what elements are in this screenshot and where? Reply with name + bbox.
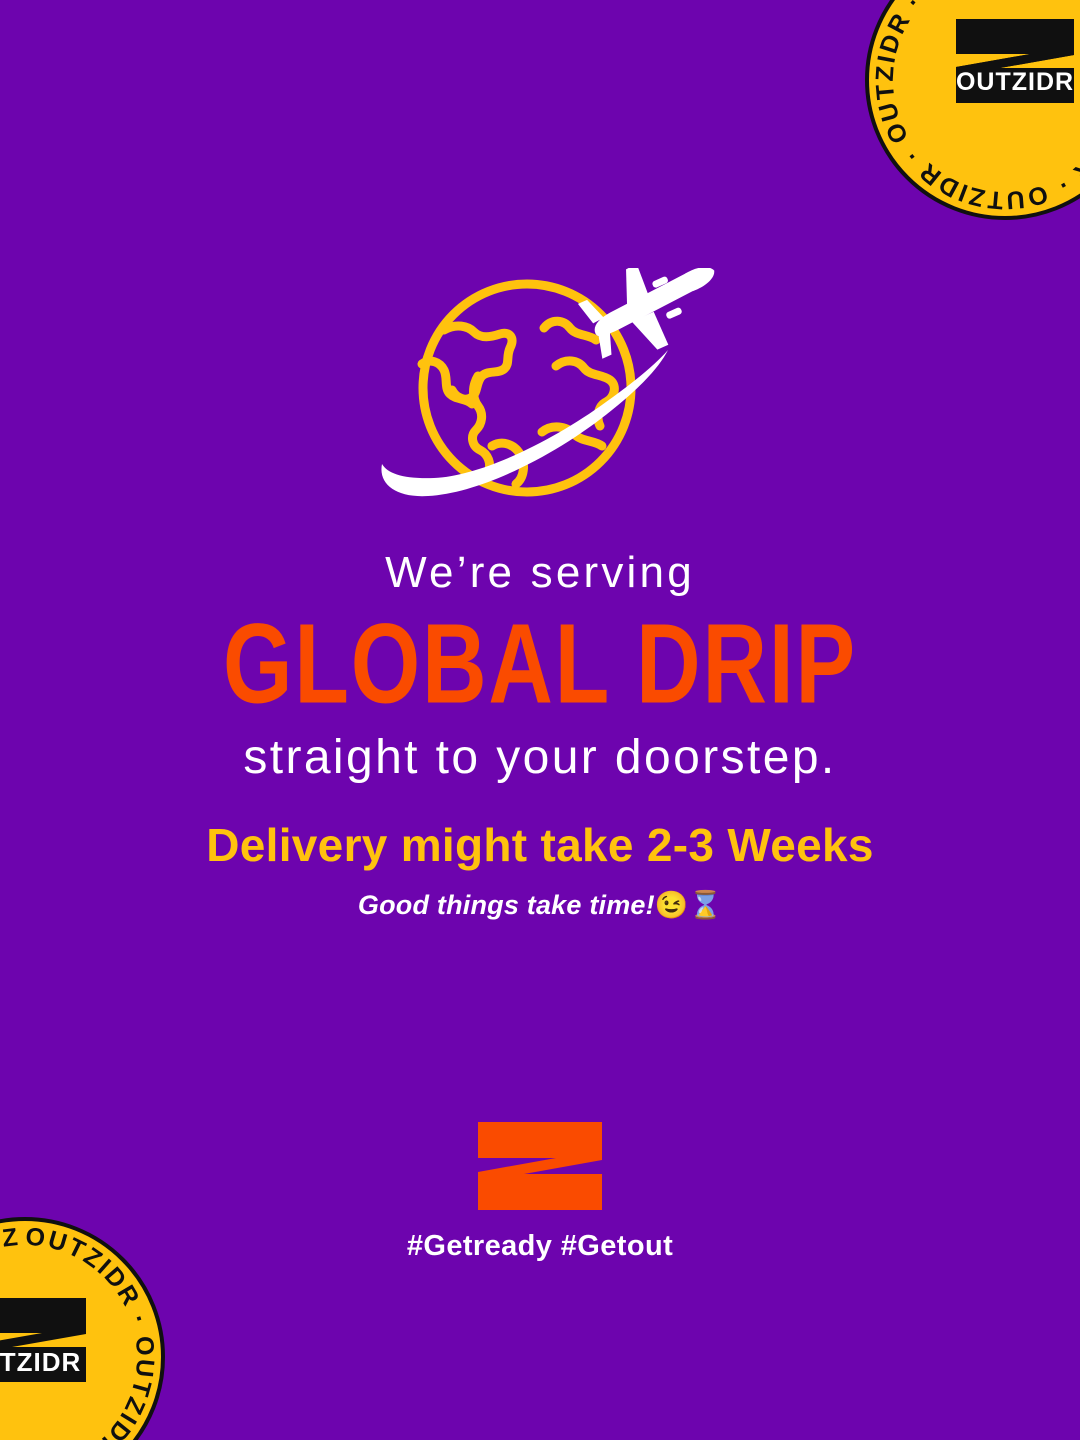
poster-canvas: We’re serving GLOBAL DRIP straight to yo… <box>0 0 1080 1440</box>
badge-wordmark: OUTZIDR <box>956 68 1074 96</box>
airplane-icon <box>573 268 720 372</box>
outzidr-sticker-top-right: OUTZIDR · OUTZIDR · OUTZIDR · OUTZIDR · … <box>860 0 1080 225</box>
subline-text: straight to your doorstep. <box>0 731 1080 785</box>
delivery-note-text: Good things take time!😉⌛ <box>0 891 1080 921</box>
delivery-note-emojis: 😉⌛ <box>655 890 722 920</box>
globe-with-airplane-icon <box>360 268 720 518</box>
delivery-note-label: Good things take time! <box>358 890 655 920</box>
outzidr-sticker-bottom-left: OUTZIDR · OUTZIDR · OUTZIDR · OUTZIDR · … <box>0 1212 170 1440</box>
delivery-notice: Delivery might take 2-3 Weeks Good thing… <box>0 820 1080 920</box>
hero-illustration <box>0 268 1080 518</box>
z-monogram-logo <box>478 1122 602 1210</box>
main-copy-block: We’re serving GLOBAL DRIP straight to yo… <box>0 548 1080 785</box>
page-title: GLOBAL DRIP <box>38 607 1042 723</box>
hashtags-text: #Getready #Getout <box>407 1230 673 1263</box>
delivery-eta-text: Delivery might take 2-3 Weeks <box>0 820 1080 871</box>
eyebrow-text: We’re serving <box>0 548 1080 597</box>
